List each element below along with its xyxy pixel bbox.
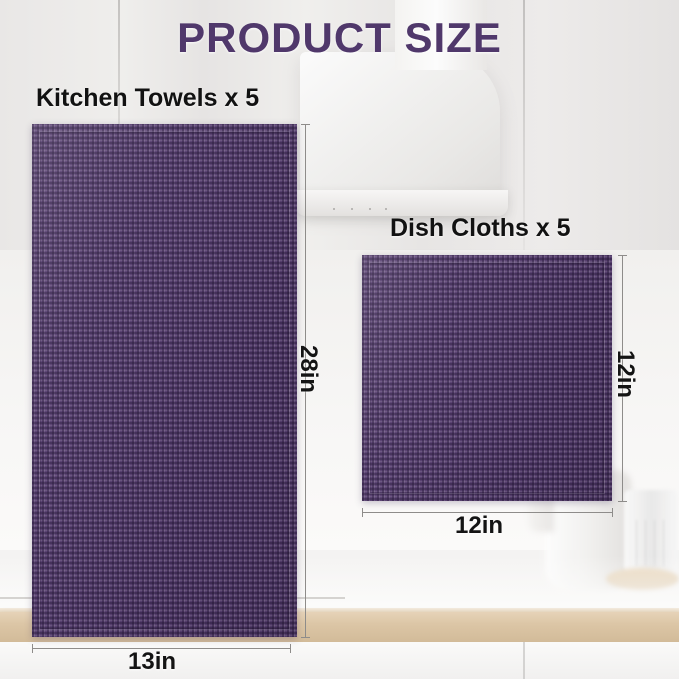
cloth-width-label: 12in	[455, 512, 503, 540]
cloth-width-tick-left	[362, 508, 363, 517]
cloth-width-tick-right	[612, 508, 613, 517]
towel-height-tick-bottom	[301, 637, 310, 638]
lower-cabinet-seam	[523, 642, 525, 679]
towel-width-tick-left	[32, 644, 33, 653]
product-size-infographic: PRODUCT SIZE Kitchen Towels x 5 28in 13i…	[0, 0, 679, 679]
cloth-height-tick-top	[618, 255, 627, 256]
dish-cloth-swatch	[362, 255, 612, 501]
towel-height-tick-top	[301, 124, 310, 125]
cloth-weave-texture	[362, 255, 612, 501]
page-title: PRODUCT SIZE	[0, 14, 679, 62]
towel-width-tick-right	[290, 644, 291, 653]
cloth-height-label: 12in	[611, 350, 639, 398]
dish-cloths-label: Dish Cloths x 5	[390, 214, 571, 243]
kitchen-towel-swatch	[32, 124, 297, 637]
kitchen-towels-label: Kitchen Towels x 5	[36, 84, 259, 113]
towel-weave-texture	[32, 124, 297, 637]
range-hood-lip	[296, 190, 508, 216]
towel-height-label: 28in	[294, 345, 322, 393]
range-hood-vent-dots	[330, 206, 390, 212]
cloth-height-tick-bottom	[618, 501, 627, 502]
towel-width-label: 13in	[128, 648, 176, 676]
range-hood	[300, 52, 500, 212]
